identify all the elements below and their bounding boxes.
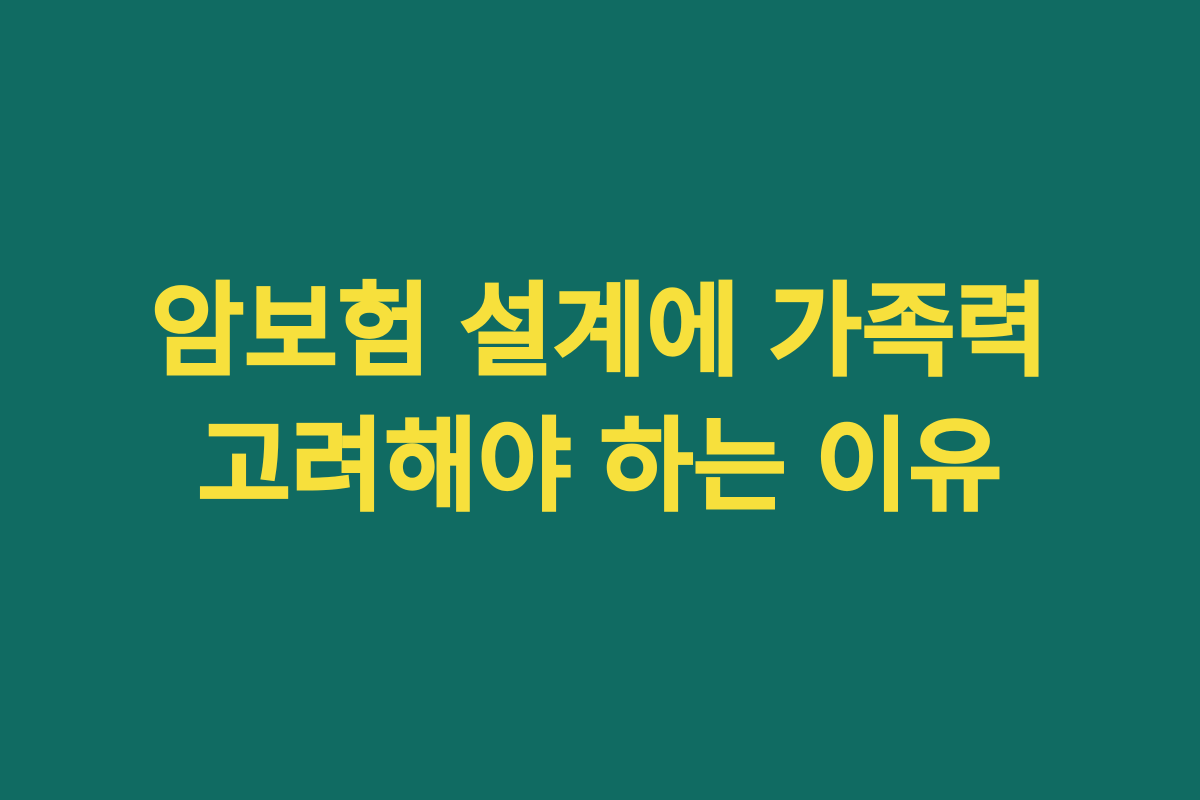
headline-text: 암보험 설계에 가족력 고려해야 하는 이유 bbox=[78, 265, 1123, 536]
title-card: 암보험 설계에 가족력 고려해야 하는 이유 bbox=[0, 0, 1200, 800]
